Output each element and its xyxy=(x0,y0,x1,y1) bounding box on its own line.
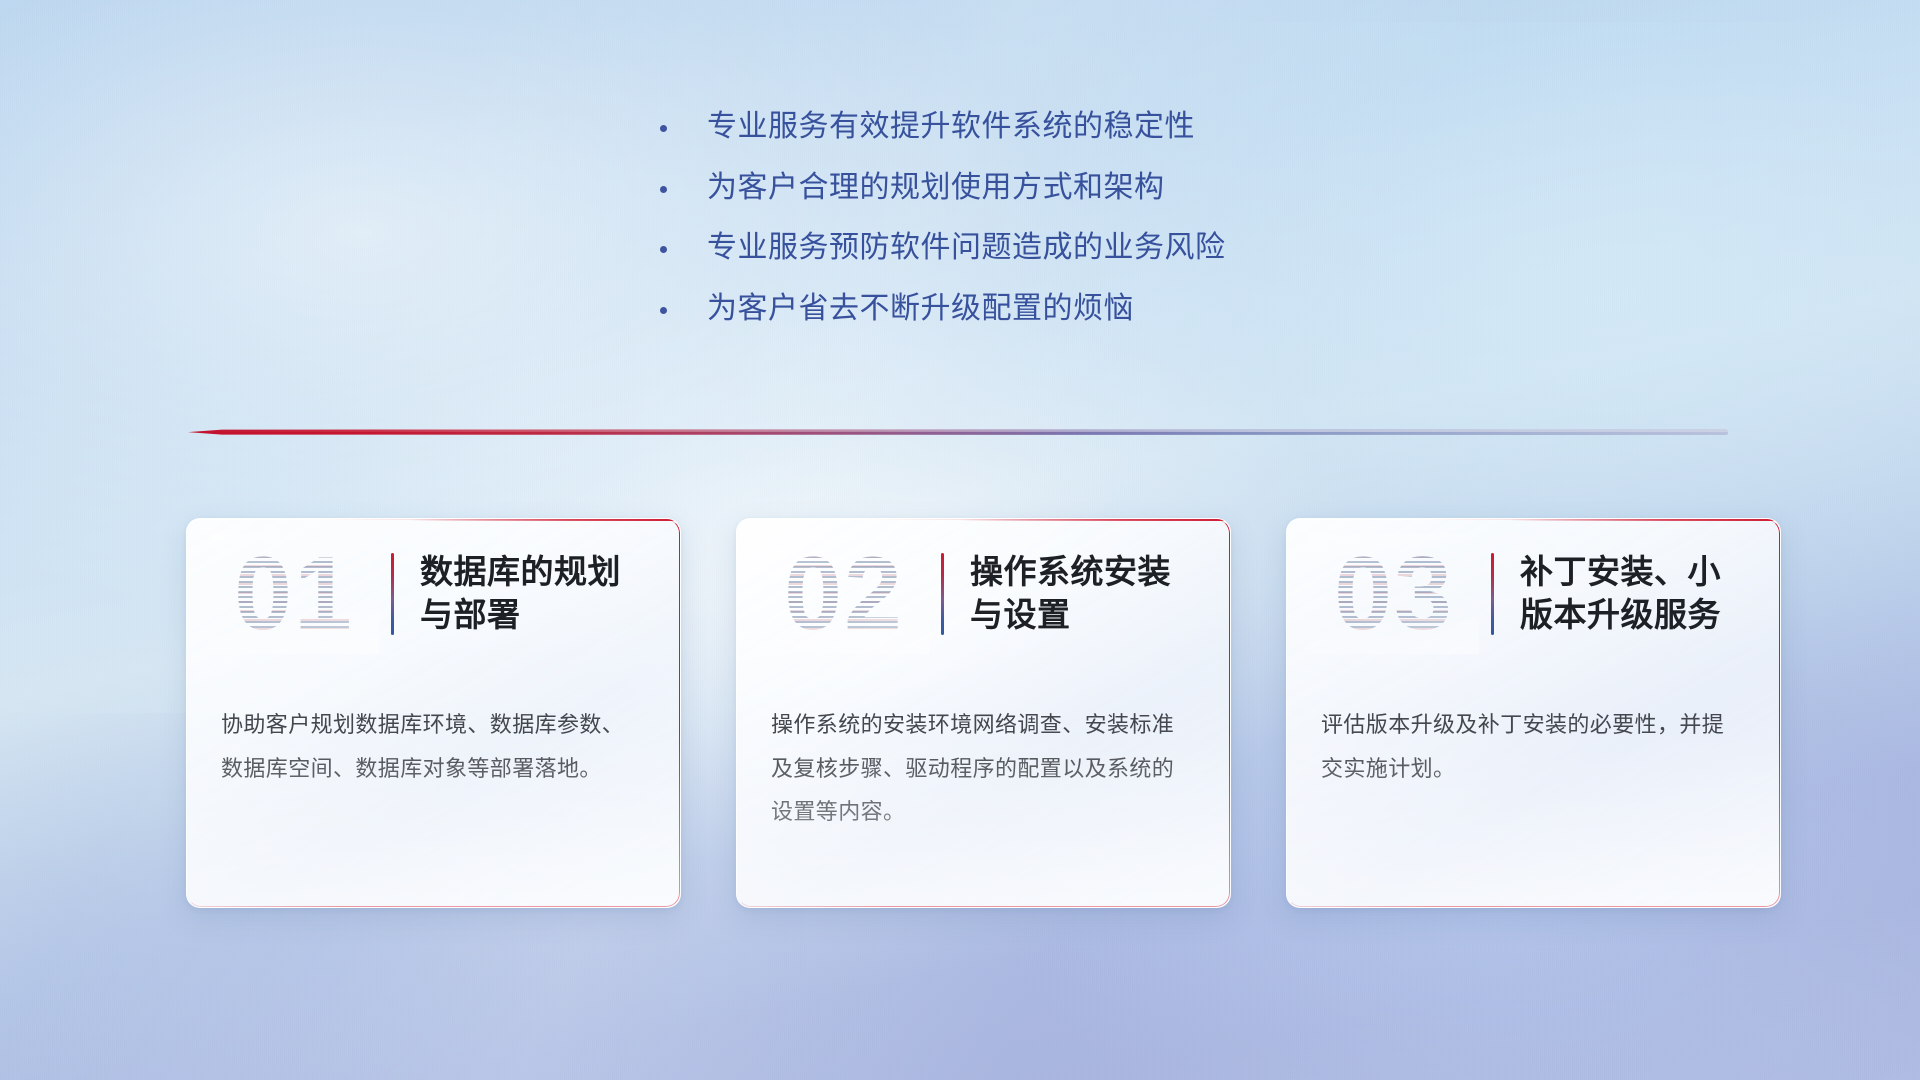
service-card[interactable]: 01 01 数据库的规划与部署 协助客户规划数据库环境、数据库参数、数据库空间、… xyxy=(186,518,681,908)
bullet-dot-icon xyxy=(660,307,667,314)
bullet-dot-icon xyxy=(660,246,667,253)
service-card[interactable]: 02 02 操作系统安装与设置 操作系统的安装环境网络调查、安装标准及复核步骤、… xyxy=(736,518,1231,908)
card-header: 02 02 操作系统安装与设置 xyxy=(737,519,1230,669)
benefits-bullet-list: 专业服务有效提升软件系统的稳定性 为客户合理的规划使用方式和架构 专业服务预防软… xyxy=(660,110,1420,352)
list-item: 为客户省去不断升级配置的烦恼 xyxy=(660,292,1420,327)
service-card-group: 01 01 数据库的规划与部署 协助客户规划数据库环境、数据库参数、数据库空间、… xyxy=(186,518,1781,908)
card-number-watermark: 02 02 xyxy=(769,540,919,648)
card-title: 操作系统安装与设置 xyxy=(970,551,1194,637)
section-divider xyxy=(188,425,1728,439)
card-number: 02 xyxy=(769,540,919,648)
bullet-dot-icon xyxy=(660,186,667,193)
card-title-accent-bar xyxy=(941,553,944,635)
bullet-text: 专业服务预防软件问题造成的业务风险 xyxy=(707,231,1226,266)
card-description: 操作系统的安装环境网络调查、安装标准及复核步骤、驱动程序的配置以及系统的设置等内… xyxy=(737,669,1230,834)
card-description: 协助客户规划数据库环境、数据库参数、数据库空间、数据库对象等部署落地。 xyxy=(187,669,680,790)
card-number-watermark: 03 03 xyxy=(1319,540,1469,648)
bullet-text: 为客户省去不断升级配置的烦恼 xyxy=(707,292,1134,327)
bullet-text: 为客户合理的规划使用方式和架构 xyxy=(707,171,1165,206)
card-number: 03 xyxy=(1319,540,1469,648)
card-description: 评估版本升级及补丁安装的必要性，并提交实施计划。 xyxy=(1287,669,1780,790)
card-title-accent-bar xyxy=(391,553,394,635)
card-header: 01 01 数据库的规划与部署 xyxy=(187,519,680,669)
card-number-watermark: 01 01 xyxy=(219,540,369,648)
divider-highlight xyxy=(188,429,1728,432)
bullet-text: 专业服务有效提升软件系统的稳定性 xyxy=(707,110,1195,145)
bullet-dot-icon xyxy=(660,125,667,132)
card-title-accent-bar xyxy=(1491,553,1494,635)
list-item: 专业服务预防软件问题造成的业务风险 xyxy=(660,231,1420,266)
card-header: 03 03 补丁安装、小版本升级服务 xyxy=(1287,519,1780,669)
card-title: 数据库的规划与部署 xyxy=(420,551,644,637)
service-card[interactable]: 03 03 补丁安装、小版本升级服务 评估版本升级及补丁安装的必要性，并提交实施… xyxy=(1286,518,1781,908)
list-item: 专业服务有效提升软件系统的稳定性 xyxy=(660,110,1420,145)
list-item: 为客户合理的规划使用方式和架构 xyxy=(660,171,1420,206)
card-title: 补丁安装、小版本升级服务 xyxy=(1520,551,1744,637)
card-number: 01 xyxy=(219,540,369,648)
